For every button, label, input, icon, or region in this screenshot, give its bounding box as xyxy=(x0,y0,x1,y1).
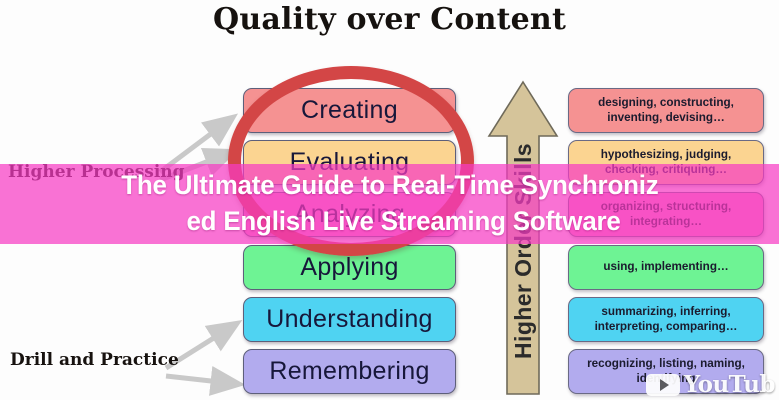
level-box-understanding: Understanding xyxy=(243,297,456,342)
descriptor-box-understanding: summarizing, inferring, interpreting, co… xyxy=(568,297,764,342)
level-box-remembering: Remembering xyxy=(243,349,456,394)
arrow-to-remembering xyxy=(166,376,238,384)
descriptor-text: summarizing, inferring, interpreting, co… xyxy=(574,305,758,335)
descriptor-text: designing, constructing, inventing, devi… xyxy=(574,96,758,126)
youtube-wordmark: YouTub xyxy=(684,371,775,398)
label-drill-and-practice: Drill and Practice xyxy=(10,350,179,370)
caption-line-2: ed English Live Streaming Software xyxy=(158,204,621,240)
level-label: Applying xyxy=(300,253,398,282)
infographic-canvas: Quality over Content Higher Order Skills… xyxy=(0,0,779,400)
descriptor-box-creating: designing, constructing, inventing, devi… xyxy=(568,88,764,133)
caption-overlay: The Ultimate Guide to Real-Time Synchron… xyxy=(0,164,779,244)
page-title: Quality over Content xyxy=(0,2,779,37)
caption-line-1: The Ultimate Guide to Real-Time Synchron… xyxy=(121,168,658,204)
descriptor-text: using, implementing… xyxy=(603,260,728,275)
play-icon[interactable] xyxy=(646,374,680,396)
descriptor-box-applying: using, implementing… xyxy=(568,245,764,290)
youtube-watermark[interactable]: YouTub xyxy=(646,371,775,398)
level-label: Remembering xyxy=(269,357,429,386)
level-label: Understanding xyxy=(266,305,433,334)
